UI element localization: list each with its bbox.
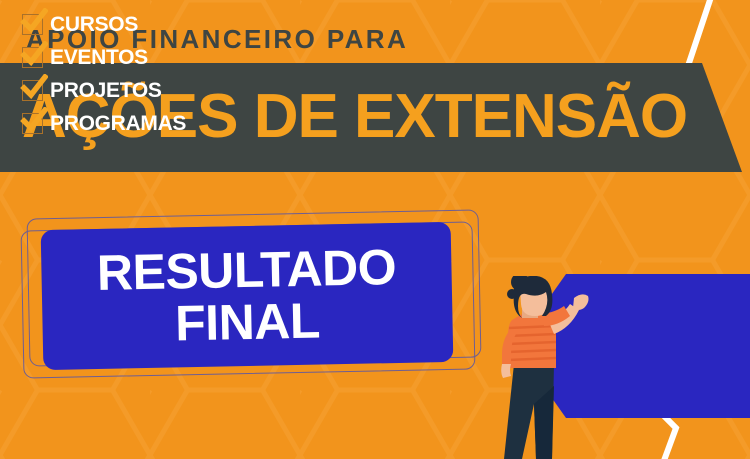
result-card: RESULTADO FINAL	[20, 212, 485, 372]
card-panel: RESULTADO FINAL	[41, 222, 454, 370]
checkbox-eventos[interactable]	[22, 47, 43, 68]
check-icon	[20, 74, 48, 102]
checklist-label-eventos: EVENTOS	[50, 46, 148, 70]
checklist-label-cursos: CURSOS	[50, 13, 138, 37]
person-illustration	[478, 276, 598, 459]
checklist-label-projetos: PROJETOS	[50, 79, 162, 103]
checkbox-programas[interactable]	[22, 113, 43, 134]
list-item: PROJETOS	[22, 74, 186, 107]
check-icon	[20, 8, 48, 36]
promo-banner: APOIO FINANCEIRO PARA AÇÕES DE EXTENSÃO …	[0, 0, 750, 459]
checkbox-projetos[interactable]	[22, 80, 43, 101]
checklist-items: CURSOS EVENTOS PROJETOS	[22, 8, 186, 140]
card-line-2: FINAL	[175, 295, 321, 350]
list-item: CURSOS	[22, 8, 186, 41]
list-item: EVENTOS	[22, 41, 186, 74]
check-icon	[20, 107, 48, 135]
check-icon	[20, 41, 48, 69]
checkbox-cursos[interactable]	[22, 14, 43, 35]
card-line-1: RESULTADO	[96, 241, 396, 299]
checklist-label-programas: PROGRAMAS	[50, 112, 186, 136]
list-item: PROGRAMAS	[22, 107, 186, 140]
